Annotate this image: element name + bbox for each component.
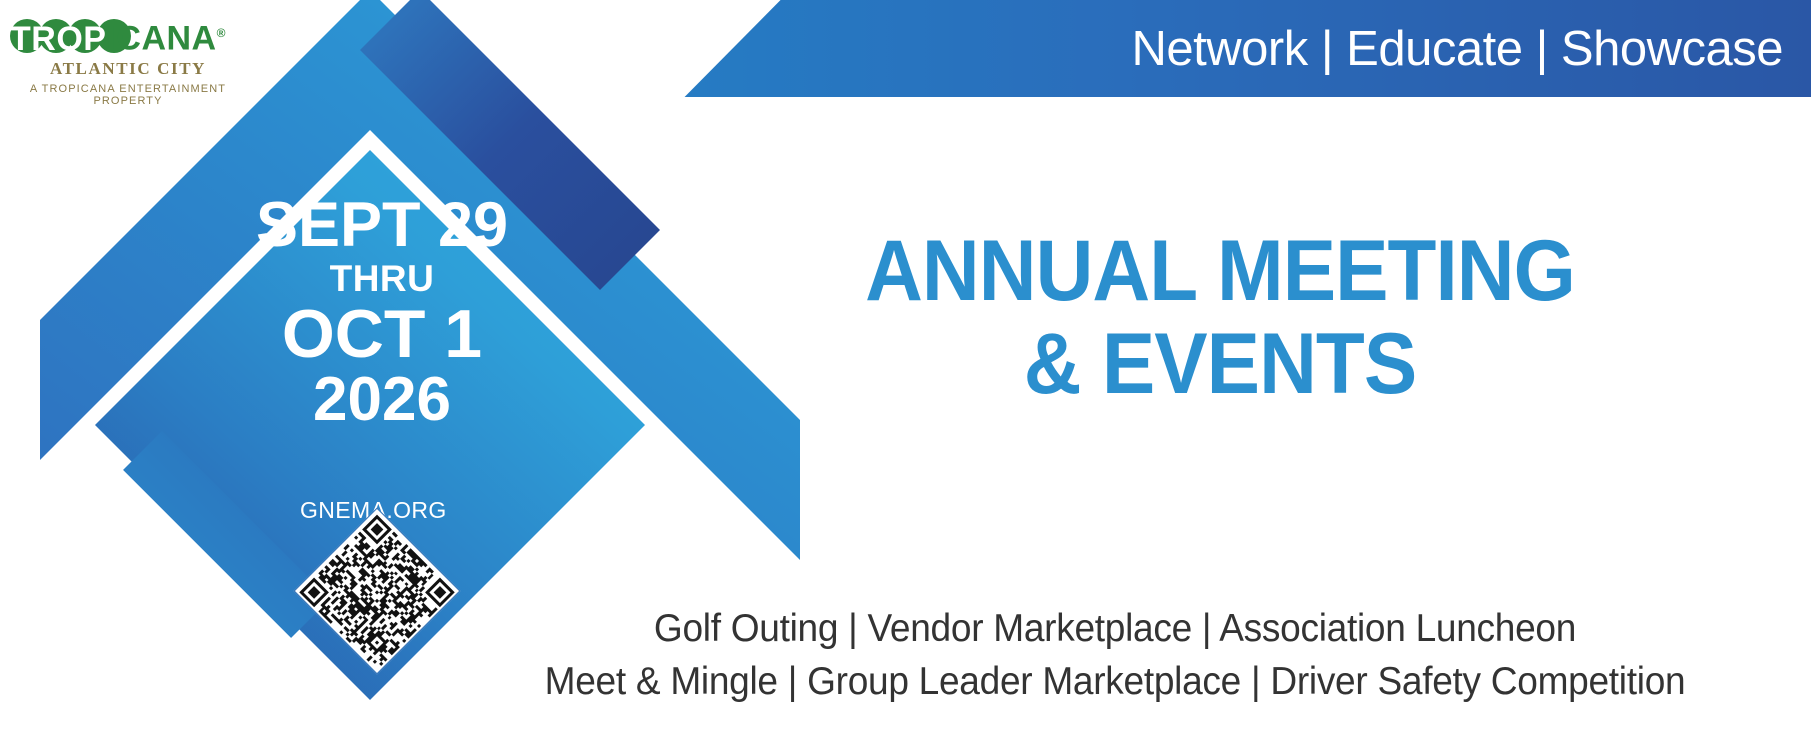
registered-mark-icon: ® (217, 26, 226, 40)
event-banner: Network | Educate | Showcase (0, 0, 1811, 750)
date-year: 2026 (232, 367, 532, 432)
date-start: SEPT 29 (232, 196, 532, 256)
logo-word-pre: TROP (10, 20, 106, 58)
event-list: Golf Outing | Vendor Marketplace | Assoc… (430, 603, 1800, 708)
event-date-block: SEPT 29 THRU OCT 1 2026 (232, 196, 532, 432)
logo-subtitle: ATLANTIC CITY (8, 59, 248, 79)
logo-tagline: A TROPICANA ENTERTAINMENT PROPERTY (8, 83, 248, 107)
tropicana-logo: TROPICANA® ATLANTIC CITY A TROPICANA ENT… (8, 16, 248, 107)
headline-line-1: ANNUAL MEETING (699, 228, 1741, 314)
tagline-text: Network | Educate | Showcase (1132, 21, 1784, 77)
event-line-1: Golf Outing | Vendor Marketplace | Assoc… (464, 603, 1766, 656)
logo-wordmark: TROPICANA® (8, 16, 248, 56)
event-line-2: Meet & Mingle | Group Leader Marketplace… (464, 656, 1766, 709)
logo-word-post: ICANA (106, 20, 216, 58)
date-end: OCT 1 (232, 302, 532, 367)
page-title: ANNUAL MEETING & EVENTS (660, 228, 1780, 415)
headline-line-2: & EVENTS (699, 314, 1741, 415)
logo-word: TROPICANA® (10, 13, 226, 58)
